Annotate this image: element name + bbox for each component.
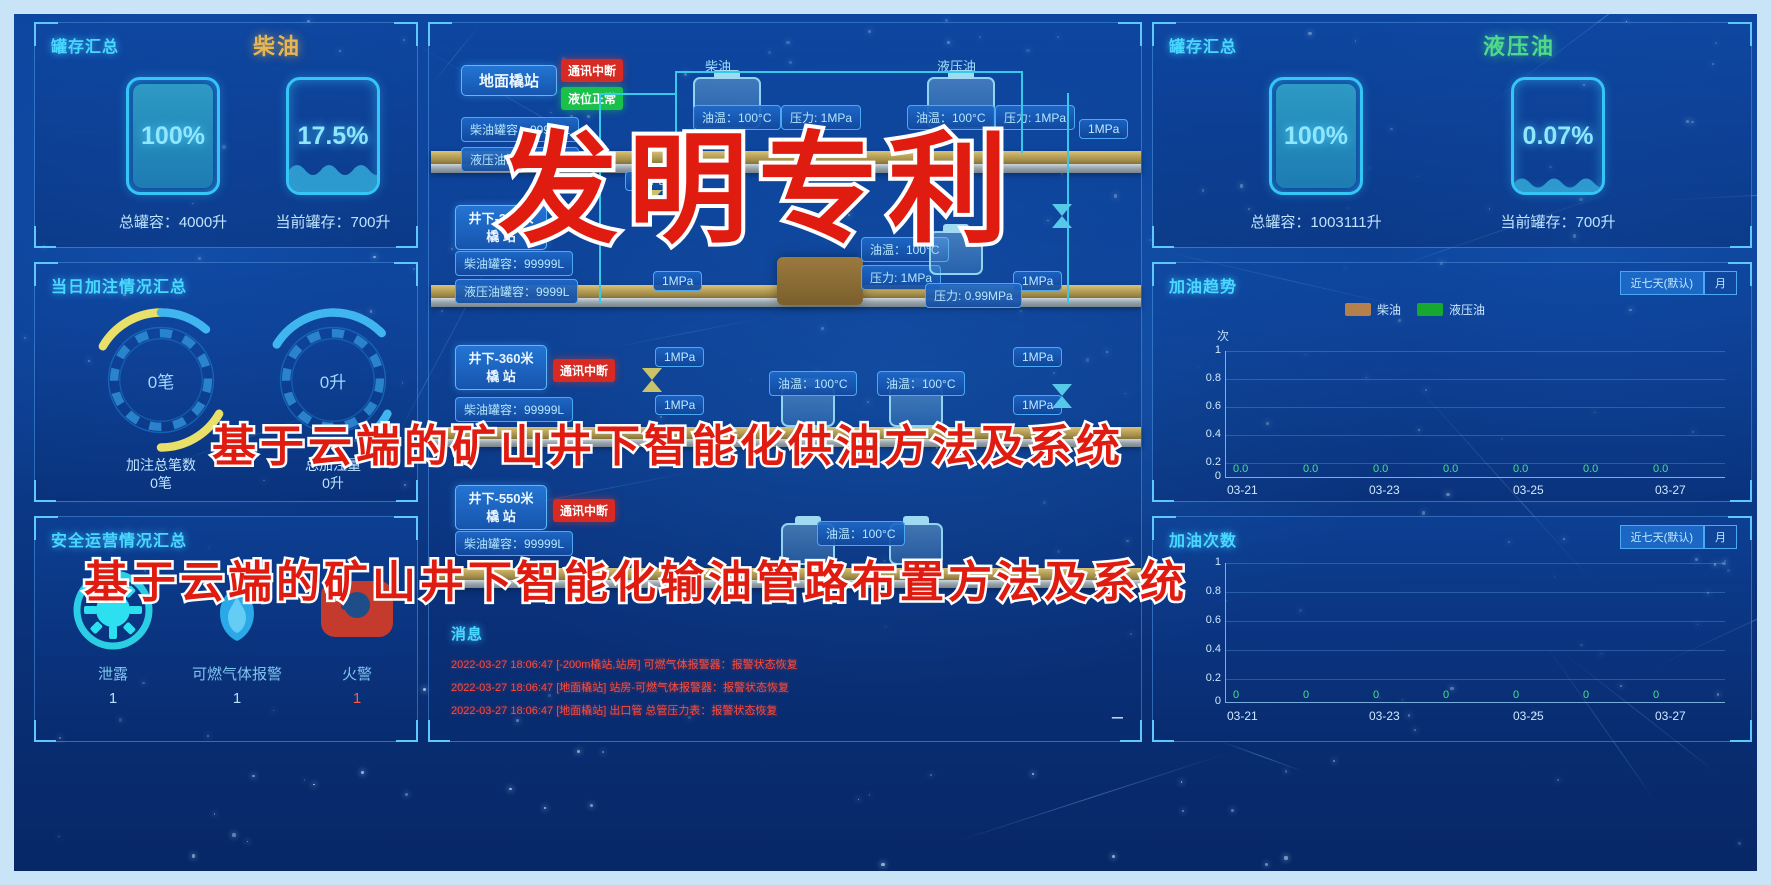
pressure-tag-2: 1MPa xyxy=(1079,119,1128,139)
count-xtick: 03-25 xyxy=(1513,709,1544,723)
count-point-label: 0 xyxy=(1233,689,1239,701)
station--360-name-line1: 井下-360米 xyxy=(464,350,538,368)
count-gridline xyxy=(1225,563,1725,564)
trend-range-buttons: 近七天(默认) 月 xyxy=(1620,271,1737,295)
trend-xtick: 03-25 xyxy=(1513,483,1544,497)
panel-left-tank-summary: 罐存汇总 柴油 100% 总罐容：4000升 17.5% 当前罐存：700升 xyxy=(34,22,418,248)
pressure-tag-3: 1MPa xyxy=(653,271,702,291)
panel-right-tank-summary: 罐存汇总 液压油 100% 总罐容：1003111升 0.07% 当前罐存：70… xyxy=(1152,22,1752,248)
watermark-line-1: 基于云端的矿山井下智能化供油方法及系统 xyxy=(212,410,1124,474)
pressure-tag-5: 1MPa xyxy=(655,347,704,367)
message-panel-title: 消息 xyxy=(451,623,1121,644)
safety-value-gas: 1 xyxy=(177,690,297,707)
trend-gridline xyxy=(1225,351,1725,352)
tank-percent-total-hydraulic: 100% xyxy=(1272,80,1360,192)
panel-title-trend: 加油趋势 xyxy=(1169,273,1237,297)
tank-shape-total-hydraulic: 100% xyxy=(1269,77,1363,195)
watermark-patent: 发明专利 xyxy=(498,92,1018,266)
tank-caption-total-hydraulic: 总罐容：1003111升 xyxy=(1211,211,1421,232)
trend-gridline xyxy=(1225,435,1725,436)
schematic-line-6 xyxy=(1067,93,1069,303)
count-point-label: 0 xyxy=(1583,689,1589,701)
station--360-name[interactable]: 井下-360米 橇 站 xyxy=(455,345,547,390)
count-ytick: 1 xyxy=(1199,556,1221,568)
trend-point-label: 0.0 xyxy=(1653,463,1668,475)
trend-xtick: 03-21 xyxy=(1227,483,1258,497)
label-group-hydraulic: 液压油 xyxy=(929,53,984,78)
tank-shape-total-diesel: 100% xyxy=(126,77,220,195)
trend-ytick: 0 xyxy=(1199,470,1221,482)
oil-name-diesel: 柴油 xyxy=(253,29,301,61)
pressure-tag-6: 1MPa xyxy=(1013,347,1062,367)
oil-name-hydraulic: 液压油 xyxy=(1483,29,1555,61)
count-gridline xyxy=(1225,592,1725,593)
panel-title-right-tank: 罐存汇总 xyxy=(1169,33,1237,57)
station--550-name[interactable]: 井下-550米 橇 站 xyxy=(455,485,547,530)
trend-xtick: 03-23 xyxy=(1369,483,1400,497)
panel-title-refuel: 当日加注情况汇总 xyxy=(51,273,187,297)
count-plot-area: 1 0.8 0.6 0.4 0.2 0 0 0 0 0 0 0 0 xyxy=(1225,563,1725,713)
legend-label-diesel: 柴油 xyxy=(1377,301,1401,318)
count-point-label: 0 xyxy=(1303,689,1309,701)
tank-caption-current-diesel: 当前罐存：700升 xyxy=(247,211,419,232)
gauge-caption-count-bottom: 0笔 xyxy=(73,475,249,493)
trend-xtick: 03-27 xyxy=(1655,483,1686,497)
count-ytick: 0 xyxy=(1199,695,1221,707)
status-badge-surface-comm: 通讯中断 xyxy=(561,59,623,82)
message-panel: 消息 2022-03-27 18:06:47 [-200m橇站,站房] 可燃气体… xyxy=(451,623,1121,725)
tank-percent-current-hydraulic: 0.07% xyxy=(1514,80,1602,192)
readout-360-temp: 油温：100°C xyxy=(769,371,857,396)
count-gridline xyxy=(1225,650,1725,651)
trend-button-week[interactable]: 近七天(默认) xyxy=(1620,271,1704,295)
safety-value-leak: 1 xyxy=(53,690,173,707)
station--550-name-line1: 井下-550米 xyxy=(464,490,538,508)
trend-point-label: 0.0 xyxy=(1583,463,1598,475)
trend-point-label: 0.0 xyxy=(1513,463,1528,475)
legend-item-diesel[interactable]: 柴油 xyxy=(1345,301,1401,318)
tank-total-diesel: 100% 总罐容：4000升 xyxy=(93,77,253,232)
count-gridline xyxy=(1225,621,1725,622)
dashboard-stage: 罐存汇总 柴油 100% 总罐容：4000升 17.5% 当前罐存：700升 xyxy=(14,14,1757,871)
tank-percent-current-diesel: 17.5% xyxy=(289,80,377,192)
count-point-label: 0 xyxy=(1373,689,1379,701)
message-line: 2022-03-27 18:06:47 [地面橇站] 出口管 总管压力表：报警状… xyxy=(451,702,1121,718)
readout-200-press2: 压力: 0.99MPa xyxy=(925,283,1022,308)
watermark-line-2: 基于云端的矿山井下智能化输油管路布置方法及系统 xyxy=(84,546,1188,610)
count-yaxis xyxy=(1225,563,1226,702)
trend-ytick: 0.8 xyxy=(1199,372,1221,384)
legend-swatch-diesel xyxy=(1345,303,1371,316)
message-line: 2022-03-27 18:06:47 [地面橇站] 站房-可燃气体报警器：报警… xyxy=(451,679,1121,695)
panel-title-left-tank: 罐存汇总 xyxy=(51,33,119,57)
trend-gridline xyxy=(1225,379,1725,380)
dashboard-root: 罐存汇总 柴油 100% 总罐容：4000升 17.5% 当前罐存：700升 xyxy=(0,0,1771,885)
tank-shape-current-hydraulic: 0.07% xyxy=(1511,77,1605,195)
status-badge-550-comm: 通讯中断 xyxy=(553,499,615,522)
station--360-name-line2: 橇 站 xyxy=(464,368,538,386)
message-line: 2022-03-27 18:06:47 [-200m橇站,站房] 可燃气体报警器… xyxy=(451,656,1121,672)
valve-icon-2 xyxy=(641,367,663,393)
trend-point-label: 0.0 xyxy=(1303,463,1318,475)
trend-point-label: 0.0 xyxy=(1373,463,1388,475)
schematic-line-2 xyxy=(675,71,1023,73)
count-xaxis xyxy=(1225,702,1725,703)
count-gridline xyxy=(1225,679,1725,680)
safety-label-leak: 泄露 xyxy=(53,663,173,684)
tank-shape-current-diesel: 17.5% xyxy=(286,77,380,195)
safety-value-fire: 1 xyxy=(297,690,417,707)
trend-ylabel: 次 xyxy=(1217,327,1229,344)
count-button-month[interactable]: 月 xyxy=(1704,525,1737,549)
trend-ytick: 0.2 xyxy=(1199,456,1221,468)
gauge-caption-volume-bottom: 0升 xyxy=(245,475,421,493)
tank-caption-total-diesel: 总罐容：4000升 xyxy=(93,211,253,232)
count-ytick: 0.4 xyxy=(1199,643,1221,655)
station--200-hydraulic-capacity: 液压油罐容：9999L xyxy=(455,279,578,304)
readout-360-temp2: 油温：100°C xyxy=(877,371,965,396)
readout-550-temp: 油温：100°C xyxy=(817,521,905,546)
legend-label-hydraulic: 液压油 xyxy=(1449,301,1485,318)
tank-current-diesel: 17.5% 当前罐存：700升 xyxy=(247,77,419,232)
count-xtick: 03-27 xyxy=(1655,709,1686,723)
count-button-week[interactable]: 近七天(默认) xyxy=(1620,525,1704,549)
count-point-label: 0 xyxy=(1653,689,1659,701)
tank-caption-current-hydraulic: 当前罐存：700升 xyxy=(1453,211,1663,232)
trend-gridline xyxy=(1225,407,1725,408)
trend-ytick: 0.6 xyxy=(1199,400,1221,412)
legend-swatch-hydraulic xyxy=(1417,303,1443,316)
trend-yaxis xyxy=(1225,351,1226,477)
trend-xaxis xyxy=(1225,477,1725,478)
tank-percent-total-diesel: 100% xyxy=(129,80,217,192)
count-range-buttons: 近七天(默认) 月 xyxy=(1620,525,1737,549)
legend-item-hydraulic[interactable]: 液压油 xyxy=(1417,301,1485,318)
label-group-diesel: 柴油 xyxy=(697,53,739,78)
trend-plot-area: 1 0.8 0.6 0.4 0.2 0 0.0 0.0 0.0 0.0 0.0 … xyxy=(1225,351,1725,469)
panel-refuel-count-chart: 加油次数 近七天(默认) 月 1 0.8 0.6 0.4 0.2 0 0 xyxy=(1152,516,1752,742)
trend-ytick: 1 xyxy=(1199,344,1221,356)
trend-gridline xyxy=(1225,463,1725,464)
trend-legend: 柴油 液压油 xyxy=(1345,301,1485,318)
trend-button-month[interactable]: 月 xyxy=(1704,271,1737,295)
tank-total-hydraulic: 100% 总罐容：1003111升 xyxy=(1211,77,1421,232)
safety-label-gas: 可燃气体报警 xyxy=(177,663,297,684)
trend-point-label: 0.0 xyxy=(1233,463,1248,475)
count-ytick: 0.6 xyxy=(1199,614,1221,626)
tank-current-hydraulic: 0.07% 当前罐存：700升 xyxy=(1453,77,1663,232)
count-xtick: 03-23 xyxy=(1369,709,1400,723)
count-point-label: 0 xyxy=(1443,689,1449,701)
count-point-label: 0 xyxy=(1513,689,1519,701)
trend-point-label: 0.0 xyxy=(1443,463,1458,475)
panel-refuel-trend-chart: 加油趋势 近七天(默认) 月 柴油 液压油 次 1 0.8 xyxy=(1152,262,1752,502)
trend-ytick: 0.4 xyxy=(1199,428,1221,440)
valve-icon-3 xyxy=(1051,203,1073,229)
count-ytick: 0.2 xyxy=(1199,672,1221,684)
station--550-name-line2: 橇 站 xyxy=(464,508,538,526)
minimize-icon[interactable]: – xyxy=(1112,706,1123,729)
safety-label-fire: 火警 xyxy=(297,663,417,684)
count-ytick: 0.8 xyxy=(1199,585,1221,597)
status-badge-360-comm: 通讯中断 xyxy=(553,359,615,382)
valve-icon-4 xyxy=(1051,383,1073,409)
count-xtick: 03-21 xyxy=(1227,709,1258,723)
schematic-line-3 xyxy=(1021,71,1023,153)
